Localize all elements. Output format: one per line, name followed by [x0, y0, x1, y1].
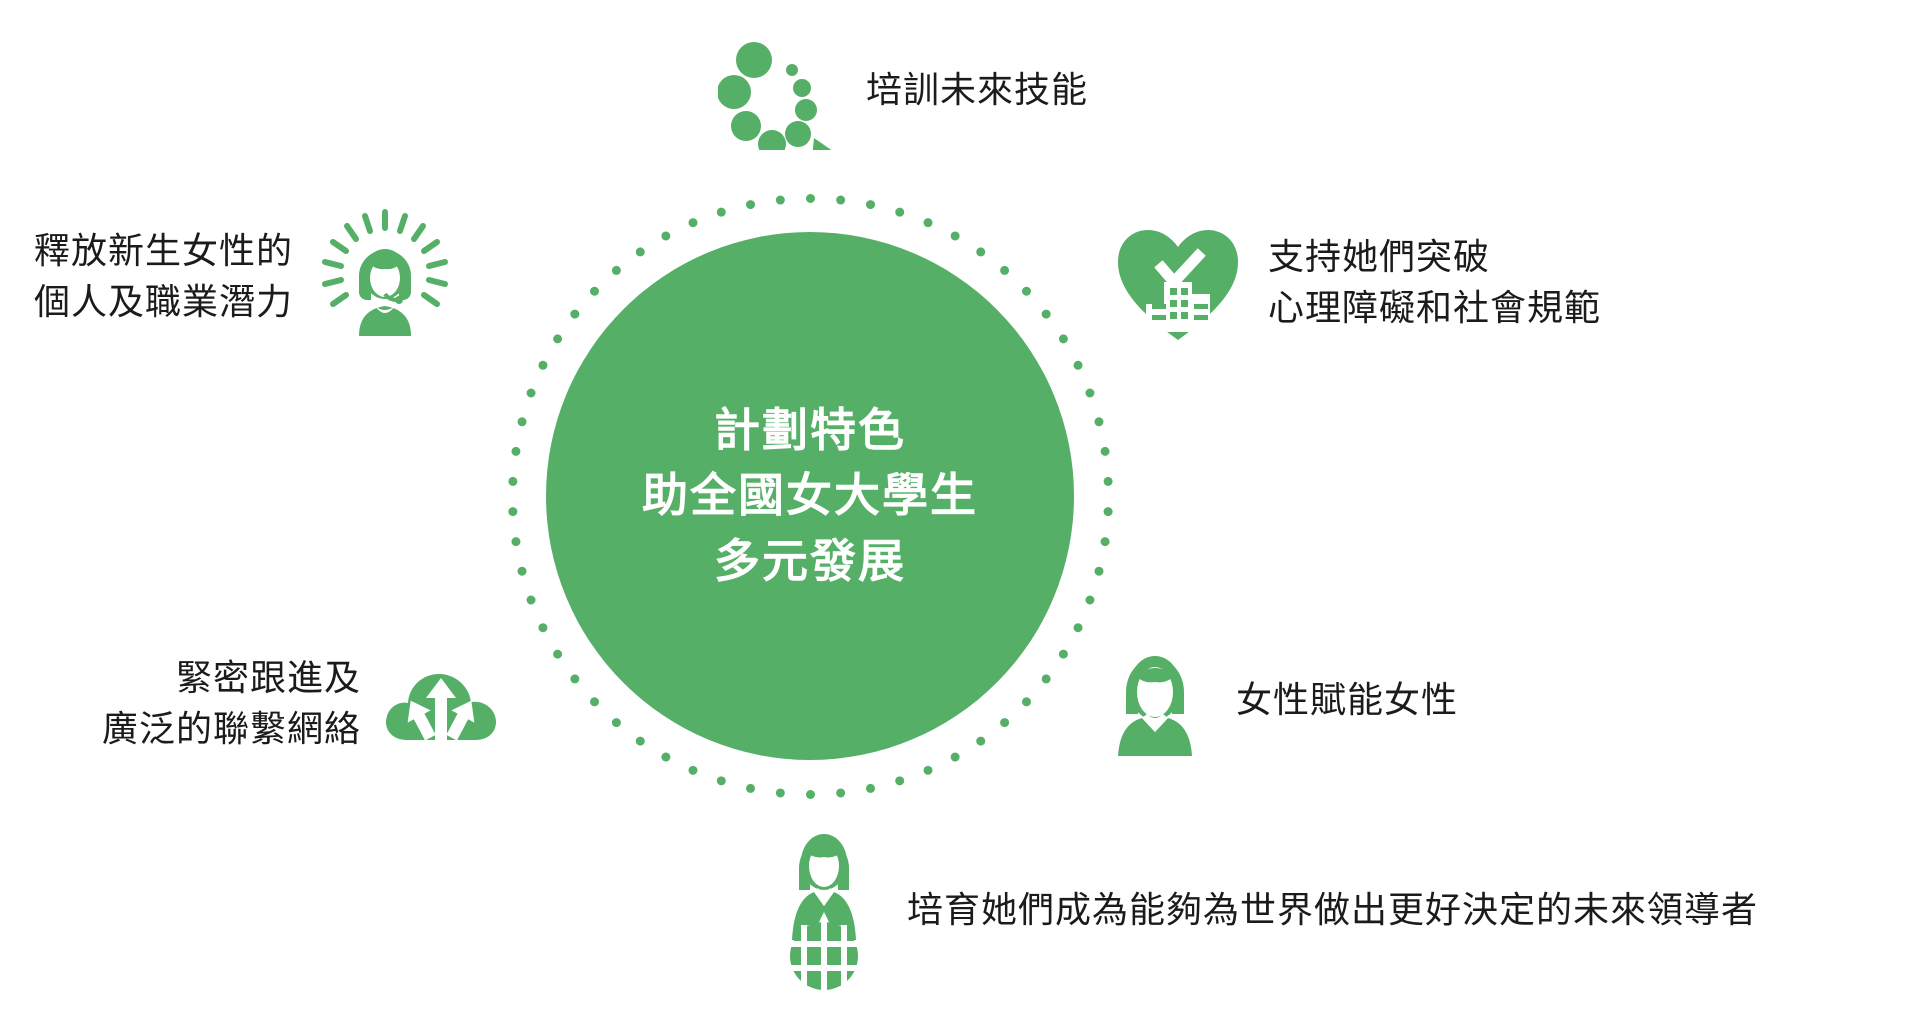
feature-label: 女性賦能女性	[1236, 674, 1458, 725]
cloud-arrows-icon	[381, 648, 501, 758]
ring-dot	[526, 388, 535, 397]
ring-dot	[570, 674, 579, 683]
ring-dot	[1000, 718, 1009, 727]
ring-dot	[1094, 417, 1103, 426]
ring-dot	[775, 195, 784, 204]
ring-dot	[1085, 388, 1094, 397]
ring-dot	[508, 507, 517, 516]
ring-dot	[1058, 649, 1067, 658]
ring-dot	[553, 649, 562, 658]
ring-dot	[1041, 674, 1050, 683]
woman-globe-star-icon	[766, 822, 881, 997]
woman-avatar-icon	[1100, 640, 1210, 760]
ring-dot	[895, 207, 904, 216]
ring-dot	[1021, 286, 1030, 295]
ring-dot	[635, 247, 644, 256]
ring-dot	[865, 783, 874, 792]
ring-dot	[1021, 697, 1030, 706]
ring-dot	[538, 360, 547, 369]
ring-dot	[1103, 507, 1112, 516]
ring-dot	[1103, 476, 1112, 485]
infographic-canvas: 計劃特色 助全國女大學生 多元發展 培訓未來技能 釋放新生女性的 個人及職業潛力	[0, 0, 1920, 1013]
feature-label: 緊密跟進及 廣泛的聯繫網絡	[102, 652, 361, 754]
ring-dot	[865, 200, 874, 209]
ring-dot	[511, 537, 520, 546]
woman-headset-icon	[315, 206, 455, 346]
ring-dot	[950, 752, 959, 761]
feature-future-leaders: 培育她們成為能夠為世界做出更好決定的未來領導者	[766, 822, 1758, 997]
feature-label: 培訓未來技能	[866, 64, 1088, 115]
ring-dot	[517, 417, 526, 426]
center-title: 計劃特色 助全國女大學生 多元發展	[642, 398, 978, 594]
ring-dot	[590, 697, 599, 706]
ring-dot	[895, 776, 904, 785]
ring-dot	[923, 765, 932, 774]
ring-dot	[716, 776, 725, 785]
ring-dot	[836, 195, 845, 204]
ring-dot	[661, 231, 670, 240]
dots-cursor-icon	[718, 30, 838, 150]
heart-building-check-icon	[1112, 216, 1244, 348]
ring-dot	[1073, 360, 1082, 369]
ring-dot	[517, 566, 526, 575]
ring-dot	[1100, 446, 1109, 455]
ring-dot	[553, 334, 562, 343]
ring-dot	[1100, 537, 1109, 546]
ring-dot	[570, 309, 579, 318]
ring-dot	[976, 247, 985, 256]
ring-dot	[1000, 265, 1009, 274]
ring-dot	[538, 623, 547, 632]
ring-dot	[688, 218, 697, 227]
ring-dot	[1073, 623, 1082, 632]
feature-follow-up-network: 緊密跟進及 廣泛的聯繫網絡	[102, 648, 501, 758]
ring-dot	[806, 790, 815, 799]
feature-women-empower-women: 女性賦能女性	[1100, 640, 1458, 760]
ring-dot	[950, 231, 959, 240]
ring-dot	[746, 783, 755, 792]
ring-dot	[806, 194, 815, 203]
ring-dot	[611, 718, 620, 727]
center-circle: 計劃特色 助全國女大學生 多元發展	[546, 232, 1074, 760]
feature-label: 釋放新生女性的 個人及職業潛力	[34, 225, 293, 327]
feature-break-barriers: 支持她們突破 心理障礙和社會規範	[1112, 216, 1601, 348]
ring-dot	[688, 765, 697, 774]
ring-dot	[1085, 595, 1094, 604]
ring-dot	[661, 752, 670, 761]
ring-dot	[526, 595, 535, 604]
ring-dot	[746, 200, 755, 209]
ring-dot	[836, 788, 845, 797]
ring-dot	[1094, 566, 1103, 575]
feature-label: 培育她們成為能夠為世界做出更好決定的未來領導者	[907, 884, 1758, 935]
feature-label: 支持她們突破 心理障礙和社會規範	[1268, 231, 1601, 333]
feature-train-future-skills: 培訓未來技能	[718, 30, 1088, 150]
ring-dot	[635, 736, 644, 745]
ring-dot	[976, 736, 985, 745]
ring-dot	[611, 265, 620, 274]
ring-dot	[1058, 334, 1067, 343]
ring-dot	[716, 207, 725, 216]
ring-dot	[775, 788, 784, 797]
ring-dot	[1041, 309, 1050, 318]
ring-dot	[511, 446, 520, 455]
ring-dot	[508, 476, 517, 485]
feature-unleash-potential: 釋放新生女性的 個人及職業潛力	[34, 206, 455, 346]
ring-dot	[590, 286, 599, 295]
ring-dot	[923, 218, 932, 227]
